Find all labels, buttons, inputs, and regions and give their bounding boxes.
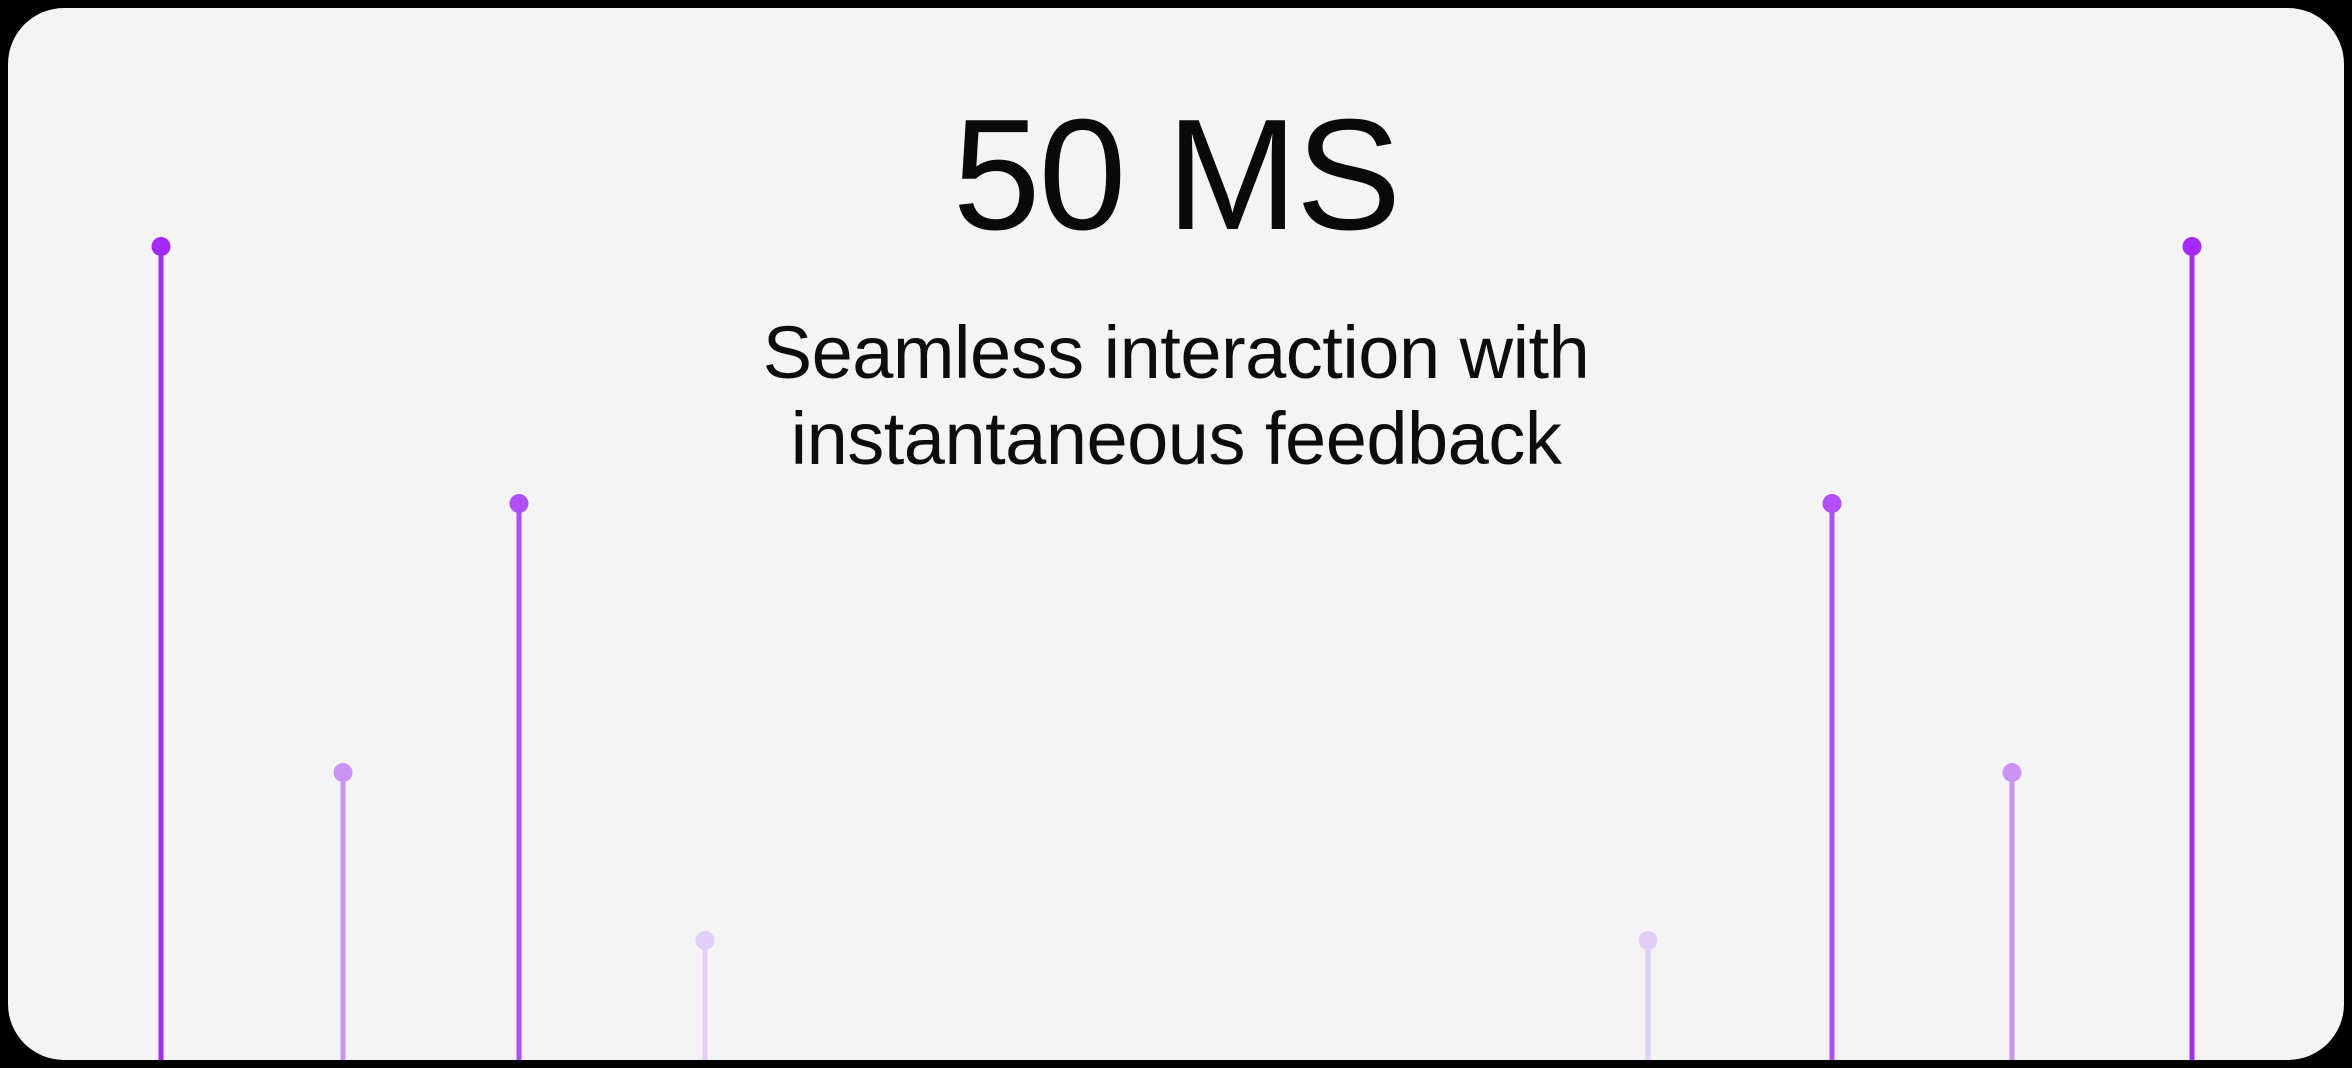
pin-line [1830, 503, 1835, 1060]
pin-line [341, 772, 346, 1060]
page-title: 50 MS [953, 96, 1400, 254]
pin-line [2010, 772, 2015, 1060]
pin-stem [2010, 772, 2015, 1060]
page-subtitle: Seamless interaction with instantaneous … [763, 310, 1590, 482]
pin-dot-icon [510, 494, 529, 513]
subtitle-line-2: instantaneous feedback [763, 396, 1590, 482]
pin-line [517, 503, 522, 1060]
pin-dot-icon [1639, 931, 1658, 950]
pin-dot-icon [696, 931, 715, 950]
hero-content: 50 MS Seamless interaction with instanta… [8, 96, 2344, 482]
pin-dot-icon [1823, 494, 1842, 513]
pin-stem [341, 772, 346, 1060]
pin-stem [1830, 503, 1835, 1060]
pin-dot-icon [2003, 763, 2022, 782]
pin-line [1646, 940, 1651, 1060]
pin-line [703, 940, 708, 1060]
pin-dot-icon [334, 763, 353, 782]
subtitle-line-1: Seamless interaction with [763, 310, 1590, 396]
pin-stem [703, 940, 708, 1060]
hero-card: 50 MS Seamless interaction with instanta… [8, 8, 2344, 1060]
pin-stem [1646, 940, 1651, 1060]
pin-stem [517, 503, 522, 1060]
